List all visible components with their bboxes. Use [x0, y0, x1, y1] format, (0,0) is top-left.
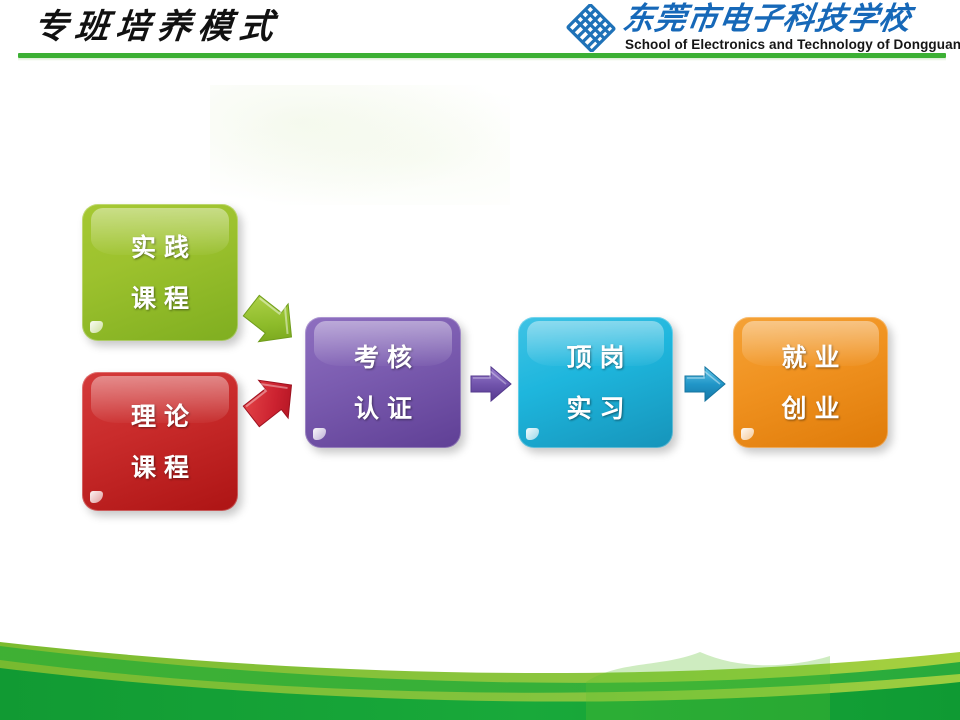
arrow-right-icon — [468, 363, 514, 405]
flow-box-label-line2: 课程 — [123, 286, 197, 311]
slide-header: 专班培养模式 — [0, 0, 960, 62]
footer-wave-decoration — [0, 590, 960, 720]
flow-box-label-line2: 课程 — [123, 455, 197, 480]
arrow-down-right-icon — [240, 292, 302, 350]
flow-box-label-line1: 顶岗 — [558, 345, 632, 370]
flow-box-label-line1: 实践 — [123, 235, 197, 260]
flow-box-label-line2: 实习 — [558, 396, 632, 421]
flow-box-post-internship[interactable]: 顶岗 实习 — [518, 317, 673, 448]
school-logo: 东莞市电子科技学校 School of Electronics and Tech… — [565, 2, 947, 54]
page-title: 专班培养模式 — [32, 4, 283, 50]
school-name-en: School of Electronics and Technology of … — [625, 37, 960, 52]
flow-box-employment-entrepreneurship[interactable]: 就业 创业 — [733, 317, 888, 448]
arrow-up-right-icon — [240, 372, 302, 430]
flow-box-theory-courses[interactable]: 理论 课程 — [82, 372, 238, 511]
arrow-right-icon — [682, 363, 728, 405]
background-watermark — [210, 85, 510, 205]
flow-box-label-line2: 创业 — [773, 396, 847, 421]
flow-box-label-line1: 理论 — [123, 404, 197, 429]
slide-canvas: 专班培养模式 — [0, 0, 960, 720]
flow-box-label-line1: 考核 — [346, 345, 420, 370]
flow-box-label-line2: 认证 — [346, 396, 420, 421]
woven-square-emblem-icon — [565, 4, 617, 52]
school-name-cn: 东莞市电子科技学校 — [620, 0, 913, 38]
flow-box-label-line1: 就业 — [773, 345, 847, 370]
header-divider-glow — [18, 58, 946, 61]
flow-box-assessment-certification[interactable]: 考核 认证 — [305, 317, 461, 448]
flow-box-practice-courses[interactable]: 实践 课程 — [82, 204, 238, 341]
